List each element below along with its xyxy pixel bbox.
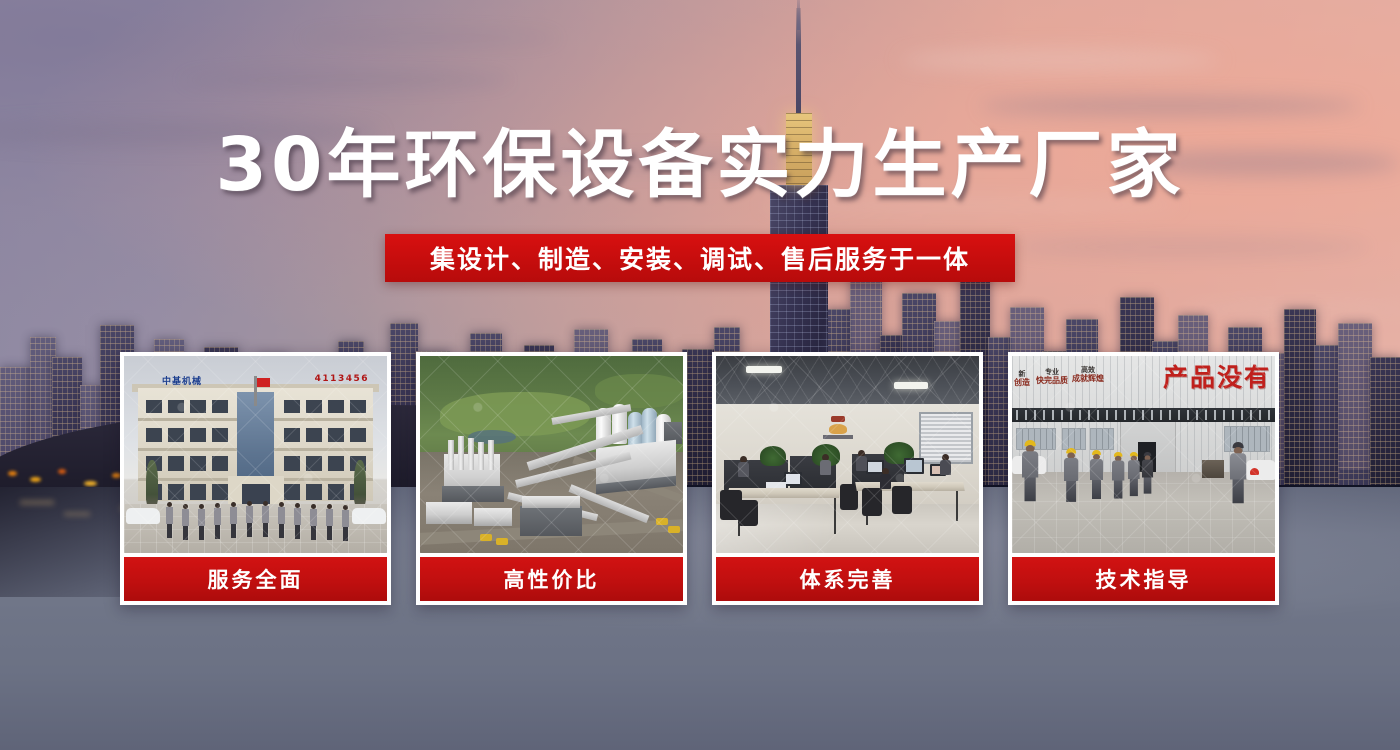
- card-caption: 服务全面: [124, 557, 387, 601]
- building-sign-text: 中基机械: [162, 374, 202, 387]
- card-caption: 技术指导: [1012, 557, 1275, 601]
- red-helmet: [1250, 468, 1259, 475]
- feature-card-value[interactable]: 高性价比: [416, 352, 687, 605]
- factory-wall-red-text: 产品没有: [1163, 358, 1271, 394]
- wall-poster: [821, 414, 855, 442]
- feature-card-system[interactable]: 体系完善: [712, 352, 983, 605]
- photo-factory-workers-briefing: 产品没有 新创造 专业快完品质 高效成就辉煌: [1012, 356, 1275, 553]
- card-caption: 高性价比: [420, 557, 683, 601]
- card-caption: 体系完善: [716, 557, 979, 601]
- feature-card-service[interactable]: 中基机械 4113456 服务全面: [120, 352, 391, 605]
- subtitle-banner: 集设计、制造、安装、调试、售后服务于一体: [385, 234, 1015, 282]
- building-phone-number: 4113456: [315, 374, 369, 384]
- feature-card-guidance[interactable]: 产品没有 新创造 专业快完品质 高效成就辉煌: [1008, 352, 1279, 605]
- feature-cards: 中基机械 4113456 服务全面: [120, 352, 1282, 605]
- page-title: 30年环保设备实力生产厂家: [0, 128, 1400, 202]
- photo-office-interior: [716, 356, 979, 553]
- hero-banner: 30年环保设备实力生产厂家 集设计、制造、安装、调试、售后服务于一体: [0, 0, 1400, 750]
- photo-aerial-industrial-plant: [420, 356, 683, 553]
- photo-company-office-building: 中基机械 4113456: [124, 356, 387, 553]
